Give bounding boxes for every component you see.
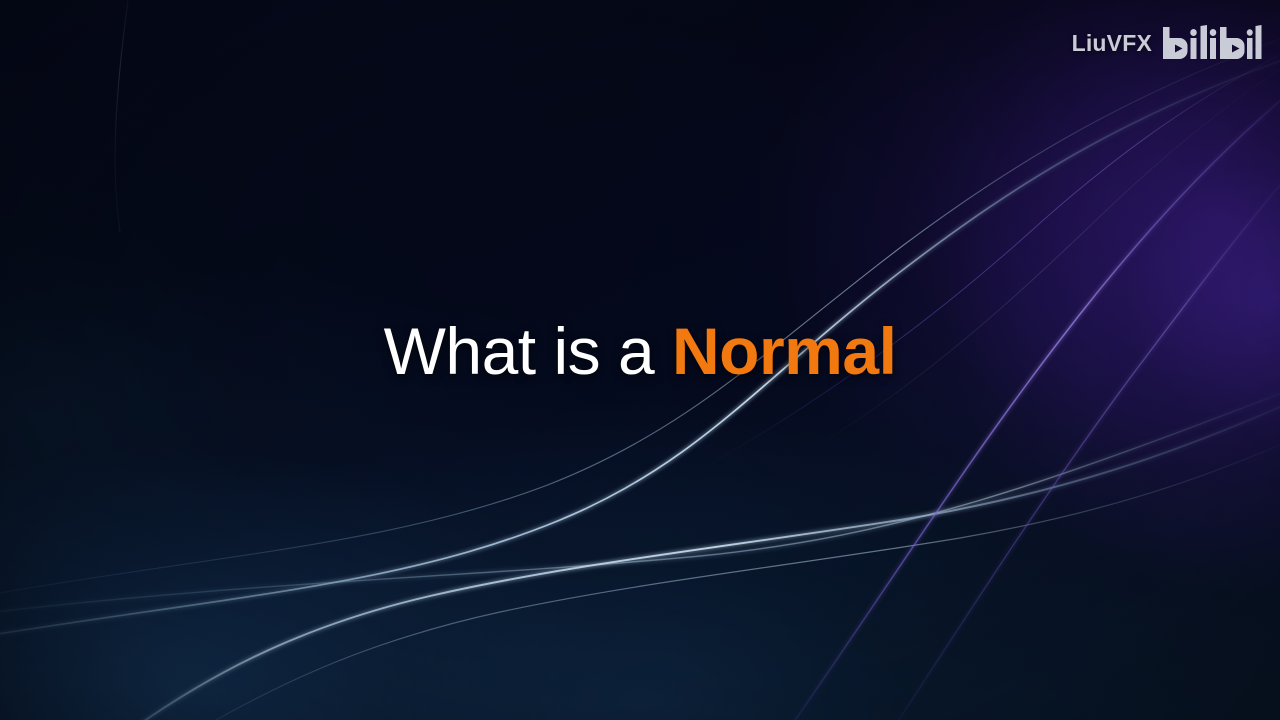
flow-curve-violet-outer [860, 162, 1280, 720]
watermark: LiuVFX [1072, 24, 1262, 62]
title-accent-text: Normal [672, 314, 896, 388]
title-block: What is a Normal [0, 318, 1280, 384]
page-title: What is a Normal [0, 318, 1280, 384]
title-card-stage: What is a Normal LiuVFX [0, 0, 1280, 720]
flow-curve-violet-inner [770, 84, 1280, 720]
flow-curve-arc-topleft [115, 0, 132, 232]
flow-curve-violet-faint [700, 44, 1280, 470]
bilibili-logo-icon [1162, 24, 1262, 62]
flow-curve-bottom-bright [96, 398, 1280, 720]
title-plain-text: What is a [384, 314, 672, 388]
flow-curve-lower-band [0, 386, 1280, 616]
channel-name-label: LiuVFX [1072, 30, 1152, 57]
flow-curve-bottom-echo [150, 436, 1280, 720]
